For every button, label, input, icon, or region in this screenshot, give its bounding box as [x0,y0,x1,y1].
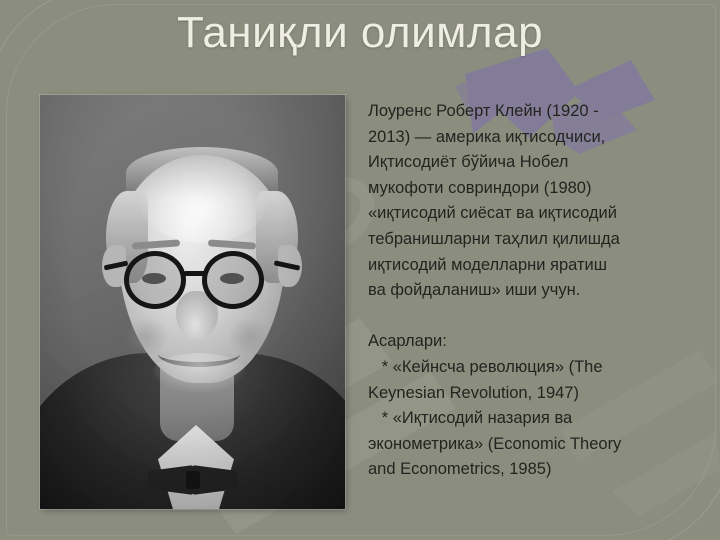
photo-vignette [40,95,345,509]
body-line: иқтисодий моделларни яратиш [368,253,698,279]
body-line: «иқтисодий сиёсат ва иқтисодий [368,201,698,227]
body-line: Лоуренс Роберт Клейн (1920 - [368,99,698,125]
body-line: and Econometrics, 1985) [368,457,698,483]
body-line: Иқтисодиёт бўйича Нобел [368,150,698,176]
page-title: Таниқли олимлар [0,8,720,59]
presentation-slide: Таниқли олимлар Лоуренс Роберт Клейн (19 [0,0,720,540]
body-line: Keynesian Revolution, 1947) [368,381,698,407]
body-line: мукофоти совриндори (1980) [368,176,698,202]
body-line-spacer [368,304,698,330]
body-line: эконометрика» (Economic Theory [368,432,698,458]
body-line: ва фойдаланиш» иши учун. [368,278,698,304]
body-line: * «Иқтисодий назария ва [368,406,698,432]
body-text-block: Лоуренс Роберт Клейн (1920 - 2013) — аме… [368,99,698,483]
portrait-photo [40,95,345,509]
body-line: * «Кейнсча революция» (The [368,355,698,381]
body-line: тебранишларни таҳлил қилишда [368,227,698,253]
body-line: 2013) — америка иқтисодчиси, [368,125,698,151]
body-line-works-heading: Асарлари: [368,329,698,355]
